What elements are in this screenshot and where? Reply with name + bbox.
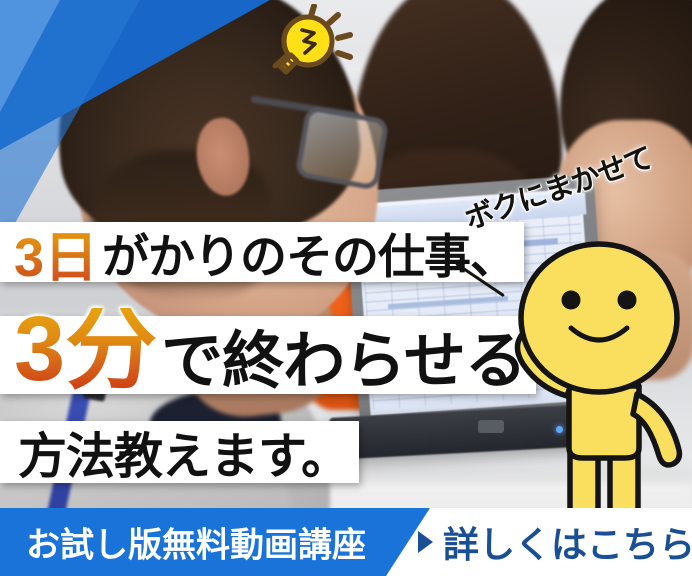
play-triangle-icon [418,531,433,553]
lightbulb-icon [253,4,361,84]
cta-badge[interactable]: お試し版無料動画講座 [0,508,430,576]
ad-banner[interactable]: 3日 がかりのその仕事、 3分 で終わらせる 方法教えます。 ボクにまかせて [0,0,692,576]
headline-line-3: 方法教えます。 [0,421,359,483]
mascot-character-icon [497,236,692,528]
headline-line-1-text: がかりのその仕事、 [102,218,516,287]
headline-line-2: 3分 で終わらせる [0,316,536,394]
headline-line-1-number: 3日 [14,213,98,292]
headline-line-2-number: 3分 [14,308,157,391]
headline-line-2-text: で終わらせる [161,310,526,400]
headline-line-1: 3日 がかりのその仕事、 [0,222,524,282]
cta-link-label: 詳しくはこちら [443,516,692,568]
blue-corner-shape-3 [0,0,60,112]
cta-badge-label: お試し版無料動画講座 [26,518,366,567]
headline-line-3-text: 方法教えます。 [18,417,349,488]
cta-bar[interactable]: お試し版無料動画講座 詳しくはこちら [0,508,692,576]
cta-details-link[interactable]: 詳しくはこちら [418,516,692,568]
photo-glasses-lens [294,105,389,190]
